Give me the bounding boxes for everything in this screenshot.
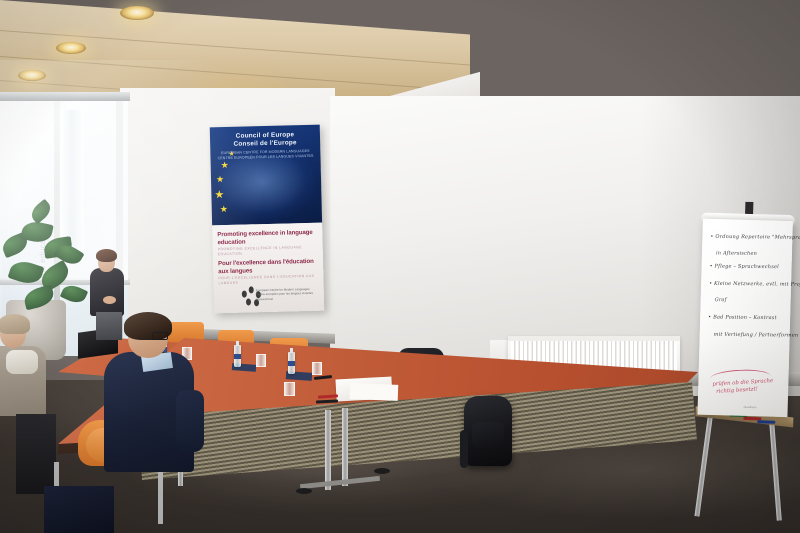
table-leg (325, 410, 331, 490)
drinking-glass[interactable] (256, 354, 266, 367)
papers-on-table[interactable] (350, 383, 399, 401)
participant-1-legs (44, 486, 114, 533)
banner-strapline-en-sub: PROMOTING EXCELLENCE IN LANGUAGE EDUCATI… (218, 245, 318, 257)
participant-2-scarf (6, 350, 38, 374)
drinking-glass[interactable] (312, 362, 322, 375)
presenter-hands (103, 296, 116, 304)
banner-logo-caption: European Centre for Modern LanguagesCent… (256, 287, 314, 301)
flipchart-paper: • Ordnung Repertoire "Mehrsprachigkeit" … (697, 219, 792, 417)
flipchart-brand: Novatherm (744, 406, 757, 409)
projection-screen-assembly: WAS? Sprachen café • Sprachenworkshops f… (418, 14, 718, 324)
conference-room-photo: in language education ★ ★ ★ ★ ★ Council … (0, 0, 800, 533)
flipchart-line: • Kleine Netzwerke, evtl. mit Projekt V (709, 281, 800, 288)
water-bottle[interactable] (234, 345, 241, 367)
flipchart-line: mit Vertiefung / Partnerformen (714, 332, 799, 339)
banner-strapline-fr-sub: POUR L'EXCELLENCE DANS L'EDUCATION AUX L… (218, 274, 318, 286)
participant-2-legs (16, 414, 56, 494)
downlight-icon (56, 42, 86, 54)
presenter-hair (96, 249, 117, 262)
flipchart-red-line: richtig besetzt! (716, 386, 758, 395)
presenter-legs (96, 312, 122, 340)
participant-1-glasses (152, 332, 168, 340)
flipchart-line: • Pflege – Sprachwechsel (710, 263, 779, 270)
banner-title: Council of Europe Conseil de l'Europe (210, 131, 320, 150)
banner-logo-line: www.ecml.at (256, 295, 313, 301)
backpack-pocket (472, 422, 504, 448)
banner-upper-panel: ★ ★ ★ ★ ★ Council of Europe Conseil de l… (210, 125, 322, 226)
presenter-torso (90, 268, 124, 316)
flipchart-line: in Aftersischen (716, 250, 757, 256)
downlight-icon (18, 70, 46, 81)
backpack-strap (460, 430, 468, 468)
flipchart-easel[interactable]: • Ordnung Repertoire "Mehrsprachigkeit" … (695, 203, 800, 446)
participant-1-arm (176, 390, 204, 452)
banner-lower-panel: Promoting excellence in language educati… (212, 223, 324, 314)
participant-2-hair (0, 314, 30, 334)
drinking-glass[interactable] (284, 382, 295, 396)
flipchart-line: • Bad Position – Kontrast (708, 314, 777, 321)
window-frame-top (0, 92, 130, 101)
council-of-europe-banner: ★ ★ ★ ★ ★ Council of Europe Conseil de l… (210, 125, 325, 314)
table-foot (296, 488, 312, 494)
backpack[interactable] (464, 396, 512, 466)
table-foot (374, 468, 390, 474)
table-leg (342, 408, 348, 486)
chair-leg (158, 464, 163, 524)
flipchart-line: Graf (715, 297, 727, 303)
flipchart-line: • Ordnung Repertoire "Mehrsprachigkeit" (710, 234, 800, 241)
water-bottle[interactable] (288, 352, 295, 374)
banner-globe-graphic (218, 155, 316, 221)
downlight-icon (120, 6, 154, 20)
